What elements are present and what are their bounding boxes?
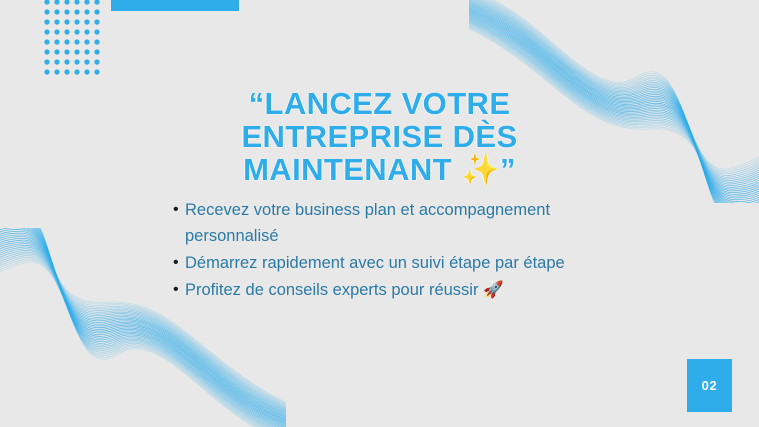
page-number-label: 02 [702,378,718,393]
bullet-marker-icon: • [173,250,179,276]
title-line-1: “LANCEZ VOTRE [0,87,759,120]
sparkles-icon: ✨ [461,152,500,187]
list-item-label: Recevez votre business plan et accompagn… [185,201,550,245]
list-item: • Démarrez rapidement avec un suivi étap… [173,250,643,276]
list-item: • Recevez votre business plan et accompa… [173,197,643,249]
bullet-list: • Recevez votre business plan et accompa… [155,197,643,304]
bullet-marker-icon: • [173,197,179,223]
title-line-3-text: MAINTENANT [243,152,461,187]
title-close-quote: ” [500,152,516,187]
title-line-3: MAINTENANT ✨” [0,153,759,186]
list-item-label: Démarrez rapidement avec un suivi étape … [185,254,565,272]
list-item: • Profitez de conseils experts pour réus… [173,277,643,303]
page-number-badge: 02 [687,359,732,412]
top-accent-bar [111,0,239,11]
bullet-marker-icon: • [173,277,179,303]
dot-grid-icon [44,0,100,78]
page-title: “LANCEZ VOTRE ENTREPRISE DÈS MAINTENANT … [0,87,759,186]
list-item-label: Profitez de conseils experts pour réussi… [185,281,504,299]
slide-canvas: “LANCEZ VOTRE ENTREPRISE DÈS MAINTENANT … [0,0,759,427]
title-line-2: ENTREPRISE DÈS [0,120,759,153]
